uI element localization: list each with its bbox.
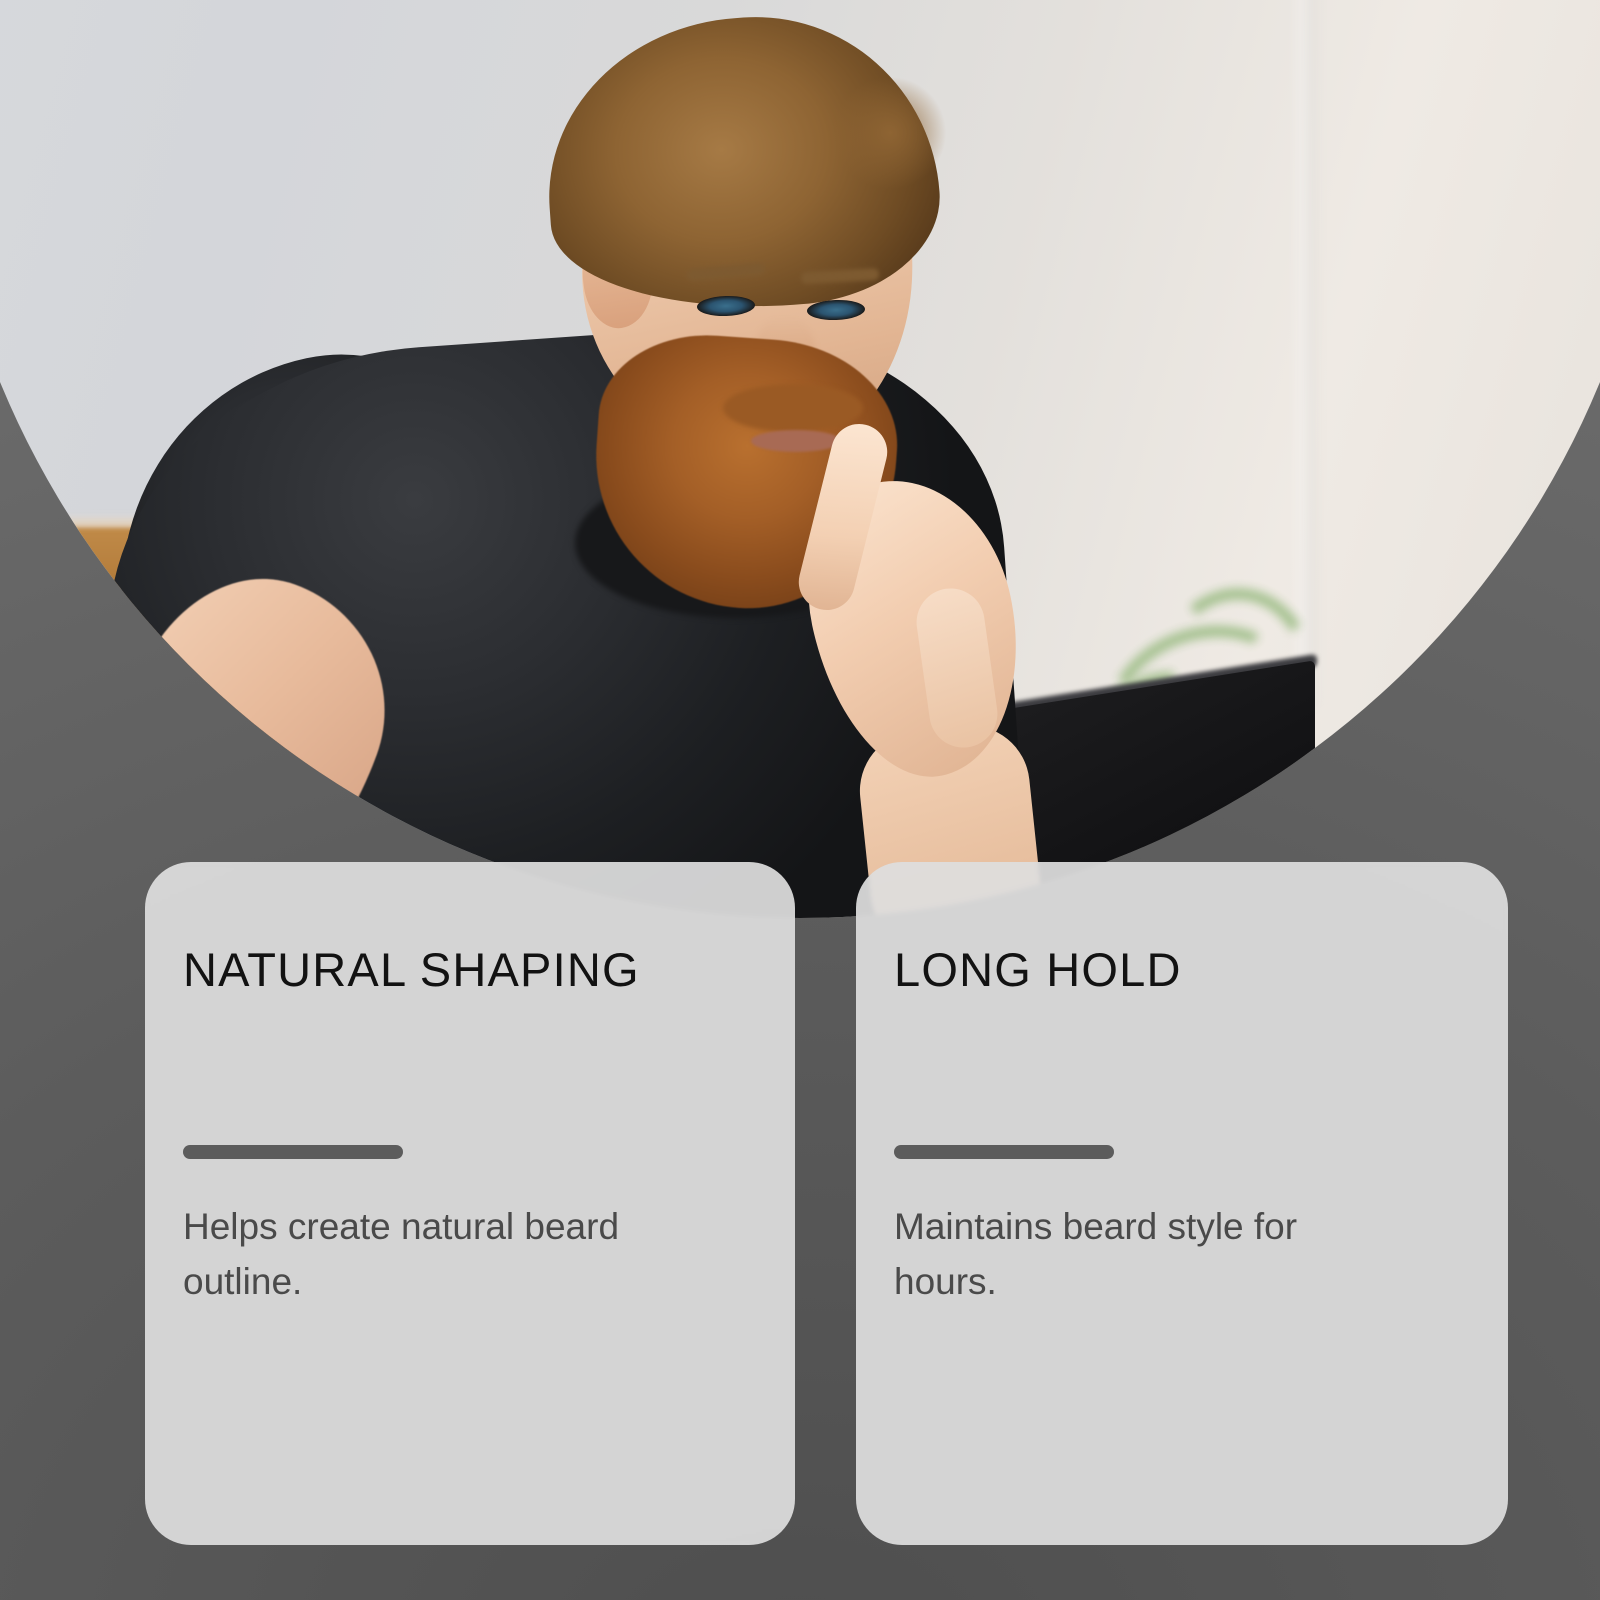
- feature-card-title: NATURAL SHAPING: [183, 942, 640, 997]
- hero-circle-photo: [0, 0, 1600, 918]
- feature-card-natural-shaping[interactable]: NATURAL SHAPING Helps create natural bea…: [145, 862, 795, 1545]
- wall-seam: [1295, 0, 1313, 708]
- feature-card-divider: [894, 1145, 1114, 1159]
- feature-card-long-hold[interactable]: LONG HOLD Maintains beard style for hour…: [856, 862, 1508, 1545]
- feature-card-description: Helps create natural beard outline.: [183, 1200, 723, 1310]
- feature-card-divider: [183, 1145, 403, 1159]
- person-lips: [751, 430, 841, 452]
- feature-card-title: LONG HOLD: [894, 942, 1182, 997]
- person-mustache: [723, 384, 863, 432]
- hero-photo-scene: [0, 0, 1600, 918]
- feature-card-description: Maintains beard style for hours.: [894, 1200, 1394, 1310]
- promo-canvas: NATURAL SHAPING Helps create natural bea…: [0, 0, 1600, 1600]
